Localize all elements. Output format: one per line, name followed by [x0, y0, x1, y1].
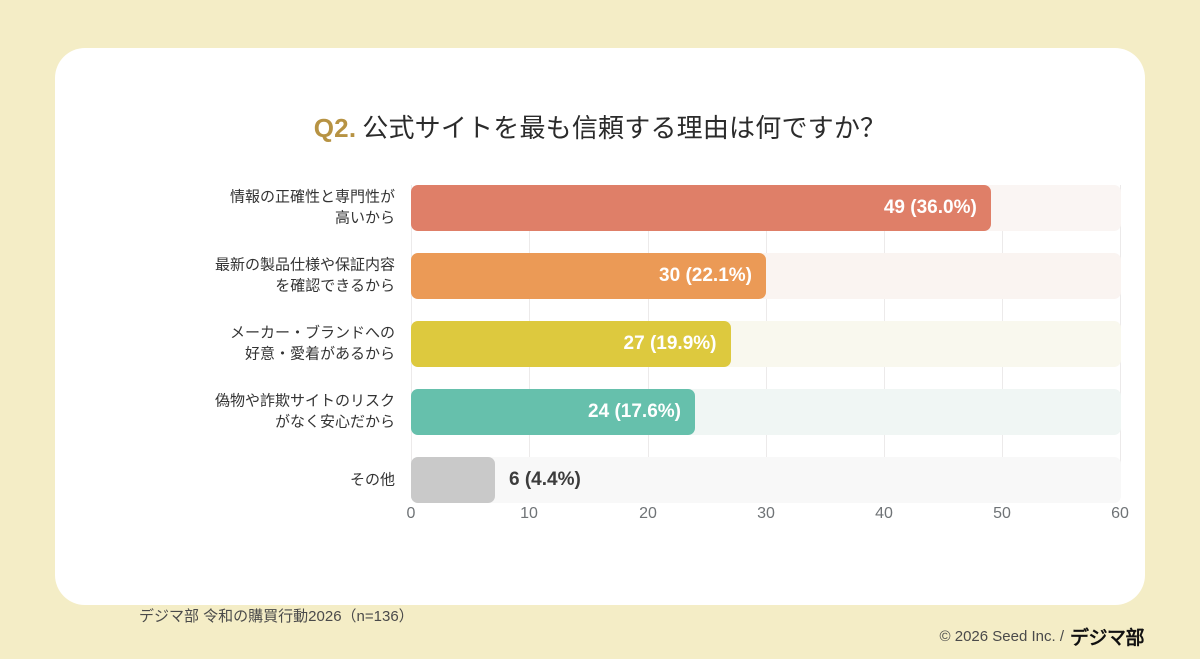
- bar-row: その他 6 (4.4%): [411, 457, 1121, 503]
- bar[interactable]: 27 (19.9%): [411, 321, 731, 367]
- bar[interactable]: 49 (36.0%): [411, 185, 991, 231]
- bar-value-label: 49 (36.0%): [884, 197, 977, 219]
- bar-value-label: 27 (19.9%): [624, 333, 717, 355]
- x-tick: 30: [757, 505, 775, 523]
- bar-row: メーカー・ブランドへの 好意・愛着があるから 27 (19.9%): [411, 321, 1121, 367]
- copyright-text: © 2026 Seed Inc. /: [940, 628, 1064, 645]
- bar-row: 情報の正確性と専門性が 高いから 49 (36.0%): [411, 185, 1121, 231]
- bar-value-label: 30 (22.1%): [659, 265, 752, 287]
- chart-card: Q2.公式サイトを最も信頼する理由は何ですか？ 情報の正確性と専門性が 高いから…: [55, 48, 1145, 605]
- chart-plot-area: 情報の正確性と専門性が 高いから 49 (36.0%) 最新の製品仕様や保証内容…: [101, 185, 1121, 505]
- footer: © 2026 Seed Inc. / デジマ部: [940, 623, 1144, 650]
- category-label: メーカー・ブランドへの 好意・愛着があるから: [145, 323, 395, 366]
- category-label: 情報の正確性と専門性が 高いから: [145, 187, 395, 230]
- chart-axis-area: 情報の正確性と専門性が 高いから 49 (36.0%) 最新の製品仕様や保証内容…: [411, 185, 1121, 505]
- source-note: デジマ部 令和の購買行動2026（n=136）: [139, 605, 414, 626]
- bar-row: 最新の製品仕様や保証内容 を確認できるから 30 (22.1%): [411, 253, 1121, 299]
- brand-logo: デジマ部: [1070, 623, 1144, 650]
- bar[interactable]: 30 (22.1%): [411, 253, 766, 299]
- category-label: 最新の製品仕様や保証内容 を確認できるから: [145, 255, 395, 298]
- page-title: Q2.公式サイトを最も信頼する理由は何ですか？: [55, 108, 1145, 145]
- x-tick: 50: [993, 505, 1011, 523]
- category-label: その他: [145, 469, 395, 490]
- x-axis-ticks: 0 10 20 30 40 50 60: [411, 505, 1121, 531]
- category-label: 偽物や詐欺サイトのリスク がなく安心だから: [145, 391, 395, 434]
- x-tick: 60: [1111, 505, 1129, 523]
- bar-row: 偽物や詐欺サイトのリスク がなく安心だから 24 (17.6%): [411, 389, 1121, 435]
- x-tick: 40: [875, 505, 893, 523]
- bar[interactable]: 24 (17.6%): [411, 389, 695, 435]
- bar-value-label: 24 (17.6%): [588, 401, 681, 423]
- x-tick: 10: [520, 505, 538, 523]
- x-tick: 0: [407, 505, 416, 523]
- question-text: 公式サイトを最も信頼する理由は何ですか？: [362, 113, 886, 143]
- x-tick: 20: [639, 505, 657, 523]
- chart-page: Q2.公式サイトを最も信頼する理由は何ですか？ 情報の正確性と専門性が 高いから…: [0, 0, 1200, 659]
- bar[interactable]: 6 (4.4%): [411, 457, 495, 503]
- question-number: Q2.: [314, 113, 357, 143]
- bar-value-label: 6 (4.4%): [509, 469, 581, 491]
- bar-rows: 情報の正確性と専門性が 高いから 49 (36.0%) 最新の製品仕様や保証内容…: [411, 185, 1121, 505]
